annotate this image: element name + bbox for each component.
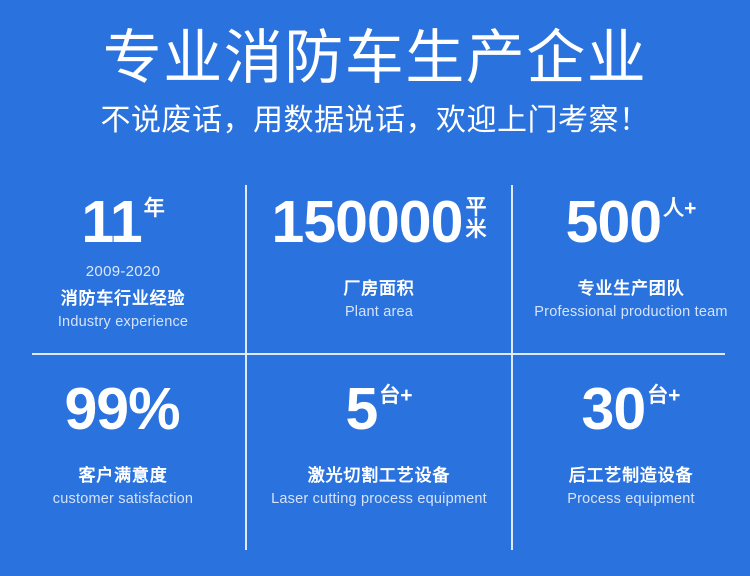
stat-cell-laser-cutting-equipment: 5 台+ 激光切割工艺设备 Laser cutting process equi… — [246, 354, 512, 558]
stat-cell-production-team: 500 人+ 专业生产团队 Professional production te… — [512, 178, 750, 354]
stat-value: 5 台+ — [345, 381, 412, 437]
banner-header: 专业消防车生产企业 不说废话，用数据说话，欢迎上门考察！ — [0, 0, 750, 139]
stat-label-cn: 消防车行业经验 — [61, 288, 186, 309]
stat-label-en: Industry experience — [58, 313, 188, 331]
stat-value: 11 年 — [81, 194, 164, 250]
stat-unit: 台+ — [377, 381, 412, 406]
stat-cell-customer-satisfaction: 99% 客户满意度 customer satisfaction — [0, 354, 246, 558]
stat-value: 500 人+ — [566, 194, 697, 250]
stat-label-en: Professional production team — [534, 303, 727, 321]
page-subtitle: 不说废话，用数据说话，欢迎上门考察！ — [0, 91, 750, 140]
stat-label-en: Plant area — [345, 303, 413, 321]
stat-label-cn: 专业生产团队 — [578, 278, 685, 299]
stat-unit: 年 — [142, 194, 165, 219]
stat-cell-plant-area: 150000 平米 厂房面积 Plant area — [246, 178, 512, 354]
stat-value: 99% — [64, 381, 181, 437]
stat-label-cn: 后工艺制造设备 — [569, 465, 694, 486]
stat-label-en: Laser cutting process equipment — [271, 490, 487, 508]
stat-unit: 台+ — [645, 381, 680, 406]
stat-number: 500 — [566, 194, 661, 250]
stat-label-cn: 激光切割工艺设备 — [308, 465, 450, 486]
stat-label-en: Process equipment — [567, 490, 695, 508]
stat-number: 11 — [81, 194, 141, 250]
page-title: 专业消防车生产企业 — [0, 0, 750, 91]
stat-range: 2009-2020 — [86, 263, 160, 281]
stat-number: 5 — [345, 381, 377, 437]
stat-cell-industry-experience: 11 年 2009-2020 消防车行业经验 Industry experien… — [0, 178, 246, 354]
stat-unit: 人+ — [661, 194, 696, 219]
stat-number: 30 — [582, 381, 646, 437]
stat-label-cn: 厂房面积 — [343, 278, 414, 299]
promo-banner: 专业消防车生产企业 不说废话，用数据说话，欢迎上门考察！ 11 年 2009-2… — [0, 0, 750, 576]
stat-unit — [180, 381, 182, 385]
stat-number: 99% — [64, 381, 179, 437]
stat-number: 150000 — [272, 194, 463, 250]
stat-label-en: customer satisfaction — [53, 490, 193, 508]
stat-unit: 平米 — [462, 194, 486, 241]
stat-value: 150000 平米 — [272, 194, 487, 250]
stat-cell-process-equipment: 30 台+ 后工艺制造设备 Process equipment — [512, 354, 750, 558]
stats-grid: 11 年 2009-2020 消防车行业经验 Industry experien… — [0, 178, 750, 558]
stat-value: 30 台+ — [582, 381, 681, 437]
stat-label-cn: 客户满意度 — [79, 465, 168, 486]
